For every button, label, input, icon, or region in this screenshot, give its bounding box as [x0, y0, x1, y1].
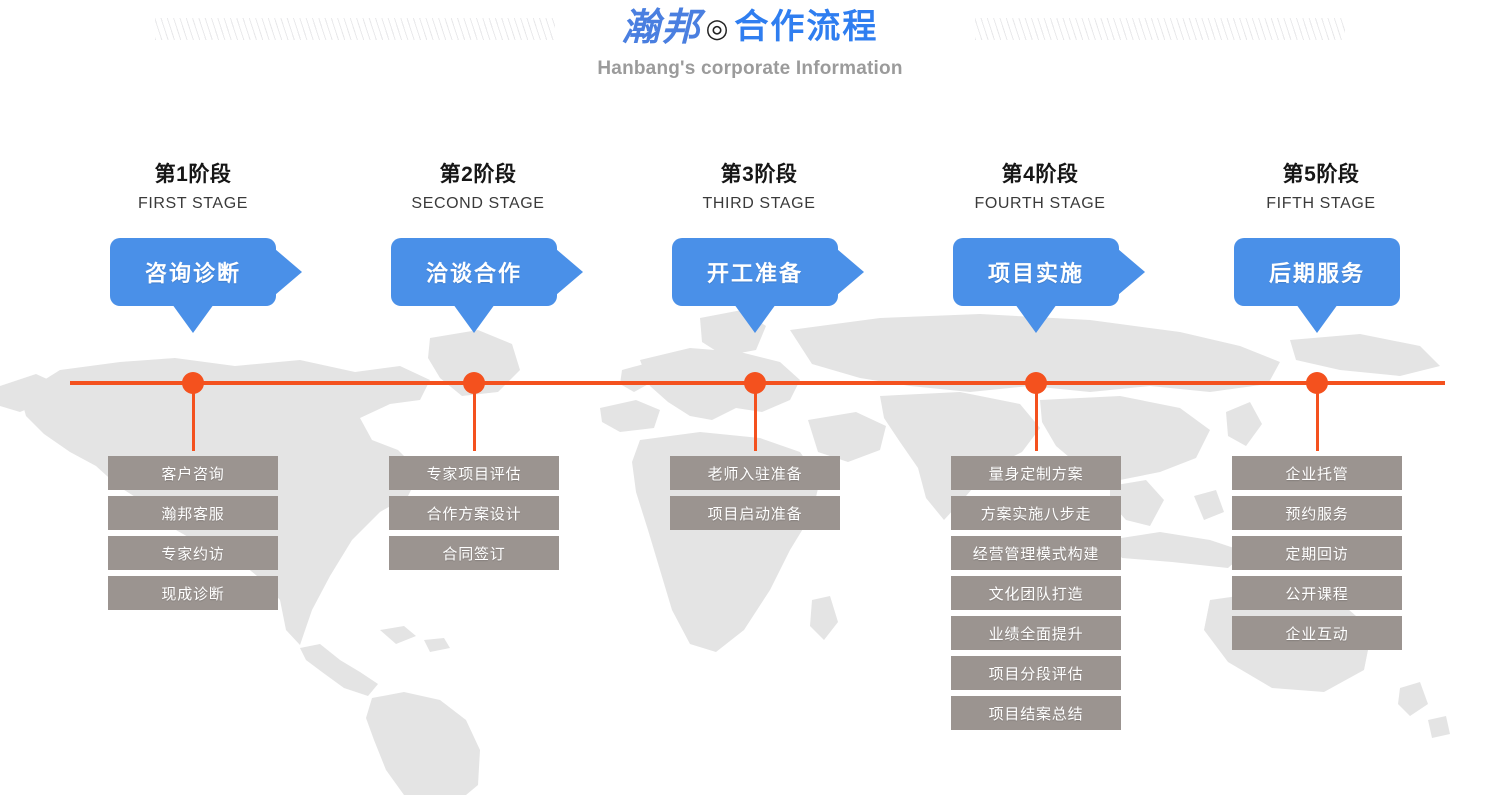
list-item[interactable]: 经营管理模式构建	[951, 536, 1121, 570]
timeline-stem	[473, 389, 476, 451]
page-subtitle: Hanbang's corporate Information	[0, 58, 1500, 80]
stage-bubble-label: 洽谈合作	[426, 256, 522, 288]
stage-bubble-3[interactable]: 开工准备	[672, 238, 838, 306]
stage-title-en: THIRD STAGE	[659, 195, 859, 213]
stage-title-cn: 第5阶段	[1221, 163, 1421, 187]
list-item[interactable]: 定期回访	[1232, 536, 1402, 570]
brand-logo-icon: ◎	[706, 15, 729, 41]
stage-items-1: 客户咨询 瀚邦客服 专家约访 现成诊断	[108, 456, 278, 610]
list-item[interactable]: 专家约访	[108, 536, 278, 570]
timeline-stem	[1035, 389, 1038, 451]
list-item[interactable]: 预约服务	[1232, 496, 1402, 530]
stage-title-cn: 第4阶段	[940, 163, 1140, 187]
stage-heading-2: 第2阶段 SECOND STAGE	[378, 163, 578, 213]
stage-title-cn: 第1阶段	[93, 163, 293, 187]
list-item[interactable]: 项目分段评估	[951, 656, 1121, 690]
list-item[interactable]: 企业互动	[1232, 616, 1402, 650]
brand-name: 瀚邦	[622, 8, 702, 46]
stage-bubble-2[interactable]: 洽谈合作	[391, 238, 557, 306]
stage-heading-1: 第1阶段 FIRST STAGE	[93, 163, 293, 213]
list-item[interactable]: 现成诊断	[108, 576, 278, 610]
list-item[interactable]: 项目启动准备	[670, 496, 840, 530]
list-item[interactable]: 公开课程	[1232, 576, 1402, 610]
stage-items-4: 量身定制方案 方案实施八步走 经营管理模式构建 文化团队打造 业绩全面提升 项目…	[951, 456, 1121, 730]
stage-title-en: SECOND STAGE	[378, 195, 578, 213]
infographic-canvas: 瀚邦 ◎ 合作流程 Hanbang's corporate Informatio…	[0, 0, 1500, 795]
list-item[interactable]: 瀚邦客服	[108, 496, 278, 530]
stage-heading-4: 第4阶段 FOURTH STAGE	[940, 163, 1140, 213]
list-item[interactable]: 企业托管	[1232, 456, 1402, 490]
list-item[interactable]: 方案实施八步走	[951, 496, 1121, 530]
stage-items-3: 老师入驻准备 项目启动准备	[670, 456, 840, 530]
stage-items-5: 企业托管 预约服务 定期回访 公开课程 企业互动	[1232, 456, 1402, 650]
list-item[interactable]: 合同签订	[389, 536, 559, 570]
stage-heading-5: 第5阶段 FIFTH STAGE	[1221, 163, 1421, 213]
stage-bubble-label: 开工准备	[707, 256, 803, 288]
timeline-stem	[192, 389, 195, 451]
stage-bubble-5[interactable]: 后期服务	[1234, 238, 1400, 306]
stage-bubble-4[interactable]: 项目实施	[953, 238, 1119, 306]
list-item[interactable]: 业绩全面提升	[951, 616, 1121, 650]
list-item[interactable]: 文化团队打造	[951, 576, 1121, 610]
stage-title-cn: 第3阶段	[659, 163, 859, 187]
stage-title-cn: 第2阶段	[378, 163, 578, 187]
list-item[interactable]: 项目结案总结	[951, 696, 1121, 730]
list-item[interactable]: 合作方案设计	[389, 496, 559, 530]
stage-bubble-label: 后期服务	[1269, 256, 1365, 288]
list-item[interactable]: 客户咨询	[108, 456, 278, 490]
page-title: 瀚邦 ◎ 合作流程 Hanbang's corporate Informatio…	[0, 8, 1500, 80]
stage-items-2: 专家项目评估 合作方案设计 合同签订	[389, 456, 559, 570]
list-item[interactable]: 专家项目评估	[389, 456, 559, 490]
list-item[interactable]: 量身定制方案	[951, 456, 1121, 490]
stage-title-en: FIFTH STAGE	[1221, 195, 1421, 213]
timeline-stem	[754, 389, 757, 451]
stage-bubble-1[interactable]: 咨询诊断	[110, 238, 276, 306]
stage-title-en: FOURTH STAGE	[940, 195, 1140, 213]
page-header: 瀚邦 ◎ 合作流程 Hanbang's corporate Informatio…	[0, 0, 1500, 110]
stage-bubble-label: 咨询诊断	[145, 256, 241, 288]
list-item[interactable]: 老师入驻准备	[670, 456, 840, 490]
page-title-main: 合作流程	[734, 10, 878, 44]
stage-title-en: FIRST STAGE	[93, 195, 293, 213]
stage-bubble-label: 项目实施	[988, 256, 1084, 288]
timeline-stem	[1316, 389, 1319, 451]
stage-heading-3: 第3阶段 THIRD STAGE	[659, 163, 859, 213]
